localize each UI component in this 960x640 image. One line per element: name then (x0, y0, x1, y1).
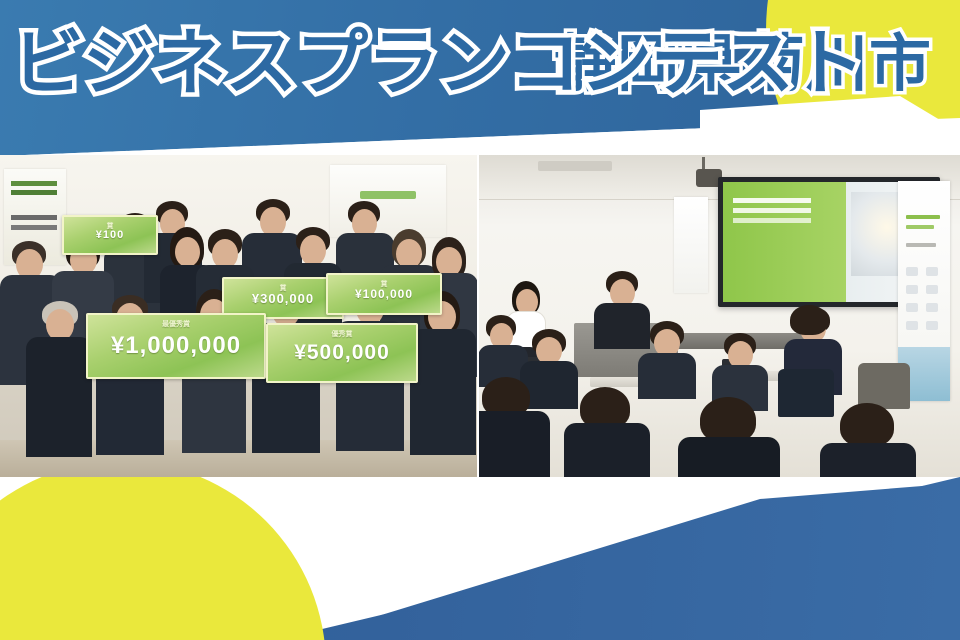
photo-right-banner-left (674, 197, 708, 293)
photo-left-screen (330, 165, 446, 237)
photo-right-ceiling-vent (538, 161, 612, 171)
poster-root: 静岡県菊川市 (0, 0, 960, 640)
check-board-second-prize: 優秀賞 ¥500,000 (266, 323, 418, 383)
page-title-contest: ビジネスプランコンテスト (12, 28, 952, 100)
check-board-grand-prize: 最優秀賞 ¥1,000,000 (86, 313, 266, 379)
check-board-small-1: 賞 ¥100 (62, 215, 158, 255)
photo-award-ceremony: 賞 ¥100 賞 ¥300,000 賞 ¥100,000 最優秀賞 ¥1,000… (0, 155, 478, 478)
bottom-yellow-circle (0, 477, 326, 640)
photo-seminar-room (478, 155, 960, 478)
check-board-small-3: 賞 ¥100,000 (326, 273, 442, 315)
chair (778, 369, 834, 417)
photo-divider (477, 155, 479, 478)
slide-text-lines (733, 198, 811, 203)
photo-band: 賞 ¥100 賞 ¥300,000 賞 ¥100,000 最優秀賞 ¥1,000… (0, 155, 960, 478)
bottom-band (0, 477, 960, 640)
